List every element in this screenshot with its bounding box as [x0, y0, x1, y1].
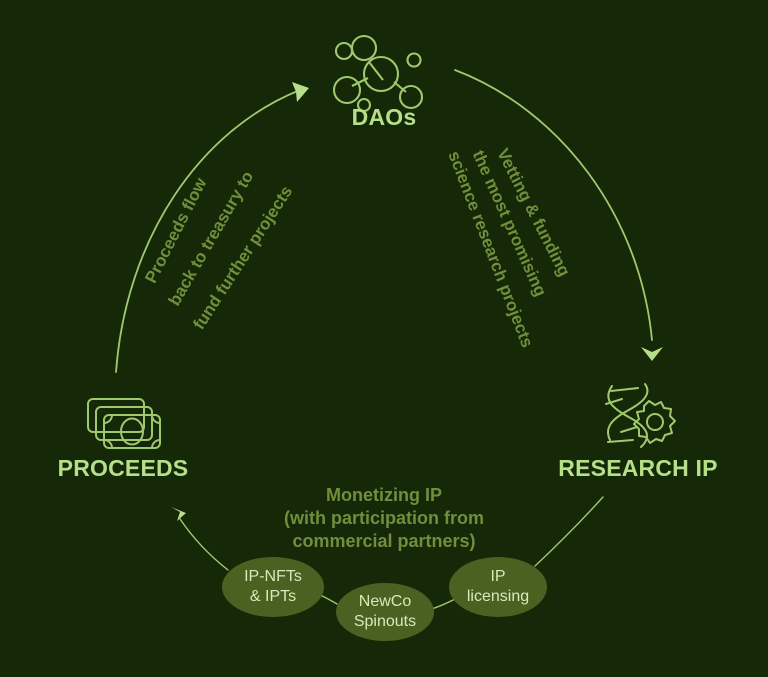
pill-label-line-2: licensing: [438, 587, 558, 607]
pill-label-newco-spinouts: NewCo Spinouts: [325, 592, 445, 631]
cycle-diagram-svg: [0, 0, 768, 677]
arrow-up-left-chevron-icon: [171, 507, 186, 521]
connector-research-ip-to-ip-licensing: [535, 497, 603, 566]
arrow-down-chevron-icon: [641, 347, 663, 361]
diagram-canvas: DAOs RESEARCH IP PROCEEDS Vetting & fund…: [0, 0, 768, 677]
molecule-network-icon: [334, 36, 422, 111]
pill-label-ip-nfts: IP-NFTs & IPTs: [213, 567, 333, 606]
pill-label-line-2: Spinouts: [325, 612, 445, 632]
bottom-flow-caption-line-1: Monetizing IP: [234, 484, 534, 508]
node-label-proceeds: PROCEEDS: [0, 455, 246, 482]
pill-label-line-1: IP-NFTs: [213, 567, 333, 587]
arc-label-proceeds-to-daos: Proceeds flow back to treasury to fund f…: [150, 160, 360, 360]
banknotes-icon: [88, 399, 160, 448]
pill-label-line-2: & IPTs: [213, 587, 333, 607]
arc-label-daos-to-research-ip: Vetting & funding the most promising sci…: [455, 135, 665, 335]
pill-label-ip-licensing: IP licensing: [438, 567, 558, 606]
dna-gear-icon: [606, 384, 675, 447]
node-label-research-ip: RESEARCH IP: [508, 455, 768, 482]
connector-ip-nfts-to-proceeds: [180, 519, 228, 570]
bottom-flow-caption-line-3: commercial partners): [234, 530, 534, 554]
bottom-flow-caption-line-2: (with participation from: [234, 507, 534, 531]
pill-label-line-1: IP: [438, 567, 558, 587]
page-title-daos: DAOs: [0, 104, 768, 131]
pill-label-line-1: NewCo: [325, 592, 445, 612]
